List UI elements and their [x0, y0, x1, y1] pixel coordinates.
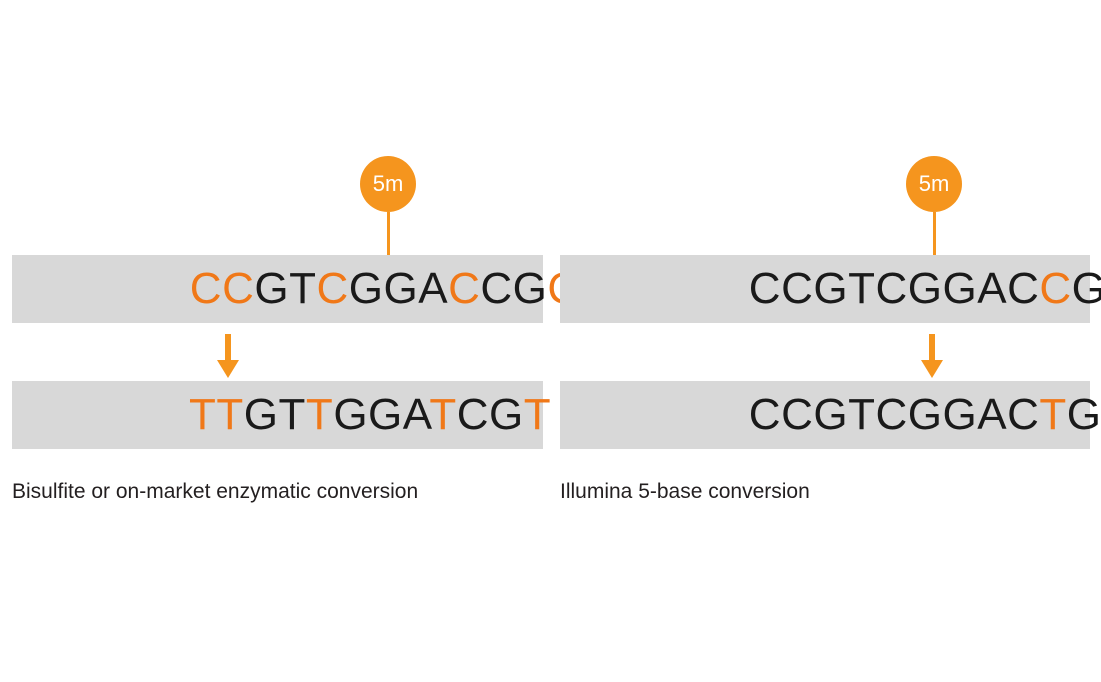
conversion-diagram: 5m CCGTCGGACCGC TTGTTGGATCGT Bisulfite o… — [0, 0, 1101, 682]
base: A — [977, 264, 1007, 313]
marker-label-5m: 5m — [906, 156, 962, 212]
base: T — [279, 390, 306, 439]
base: A — [977, 390, 1007, 439]
base: G — [489, 390, 524, 439]
base: T — [848, 264, 875, 313]
sequence-box-before-bisulfite: CCGTCGGACCGC — [12, 255, 543, 323]
marker-label-5m: 5m — [360, 156, 416, 212]
base: C — [749, 264, 781, 313]
base: A — [403, 390, 430, 439]
base: T — [306, 390, 333, 439]
base: G — [813, 390, 848, 439]
panel-bisulfite: 5m CCGTCGGACCGC TTGTTGGATCGT Bisulfite o… — [0, 0, 551, 682]
base: G — [908, 264, 943, 313]
base: T — [848, 390, 875, 439]
sequence-after-bisulfite: TTGTTGGATCGT — [88, 340, 551, 490]
sequence-box-after-bisulfite: TTGTTGGATCGT — [12, 381, 543, 449]
base: C — [1007, 264, 1039, 313]
base: G — [384, 264, 419, 313]
base: T — [216, 390, 243, 439]
base: C — [749, 390, 781, 439]
base: G — [908, 390, 943, 439]
sequence-after-illumina: CCGTCGGACTGC — [647, 340, 1101, 490]
base: C — [875, 390, 907, 439]
base: T — [189, 390, 216, 439]
base: G — [333, 390, 368, 439]
base: G — [349, 264, 384, 313]
base: C — [781, 264, 813, 313]
base: C — [875, 264, 907, 313]
base: G — [943, 264, 978, 313]
sequence-box-before-illumina: CCGTCGGACCGC — [560, 255, 1090, 323]
base: G — [1067, 390, 1101, 439]
base: G — [368, 390, 403, 439]
base: A — [418, 264, 448, 313]
base: C — [222, 264, 254, 313]
base: C — [316, 264, 348, 313]
base: G — [1072, 264, 1101, 313]
panel-illumina-5base: 5m CCGTCGGACCGC CCGTCGGACTGC Illumina 5-… — [551, 0, 1101, 682]
base: G — [513, 264, 548, 313]
caption-illumina: Illumina 5-base conversion — [560, 480, 810, 504]
base: G — [244, 390, 279, 439]
base: T — [429, 390, 456, 439]
base: C — [457, 390, 489, 439]
caption-bisulfite: Bisulfite or on-market enzymatic convers… — [12, 480, 418, 504]
base: C — [190, 264, 222, 313]
base: G — [943, 390, 978, 439]
base: G — [813, 264, 848, 313]
base: T — [1039, 390, 1066, 439]
base: C — [781, 390, 813, 439]
sequence-box-after-illumina: CCGTCGGACTGC — [560, 381, 1090, 449]
base: C — [1007, 390, 1039, 439]
base: C — [480, 264, 512, 313]
base: G — [254, 264, 289, 313]
base: C — [448, 264, 480, 313]
base: T — [524, 390, 551, 439]
base: T — [289, 264, 316, 313]
base: C — [1039, 264, 1071, 313]
